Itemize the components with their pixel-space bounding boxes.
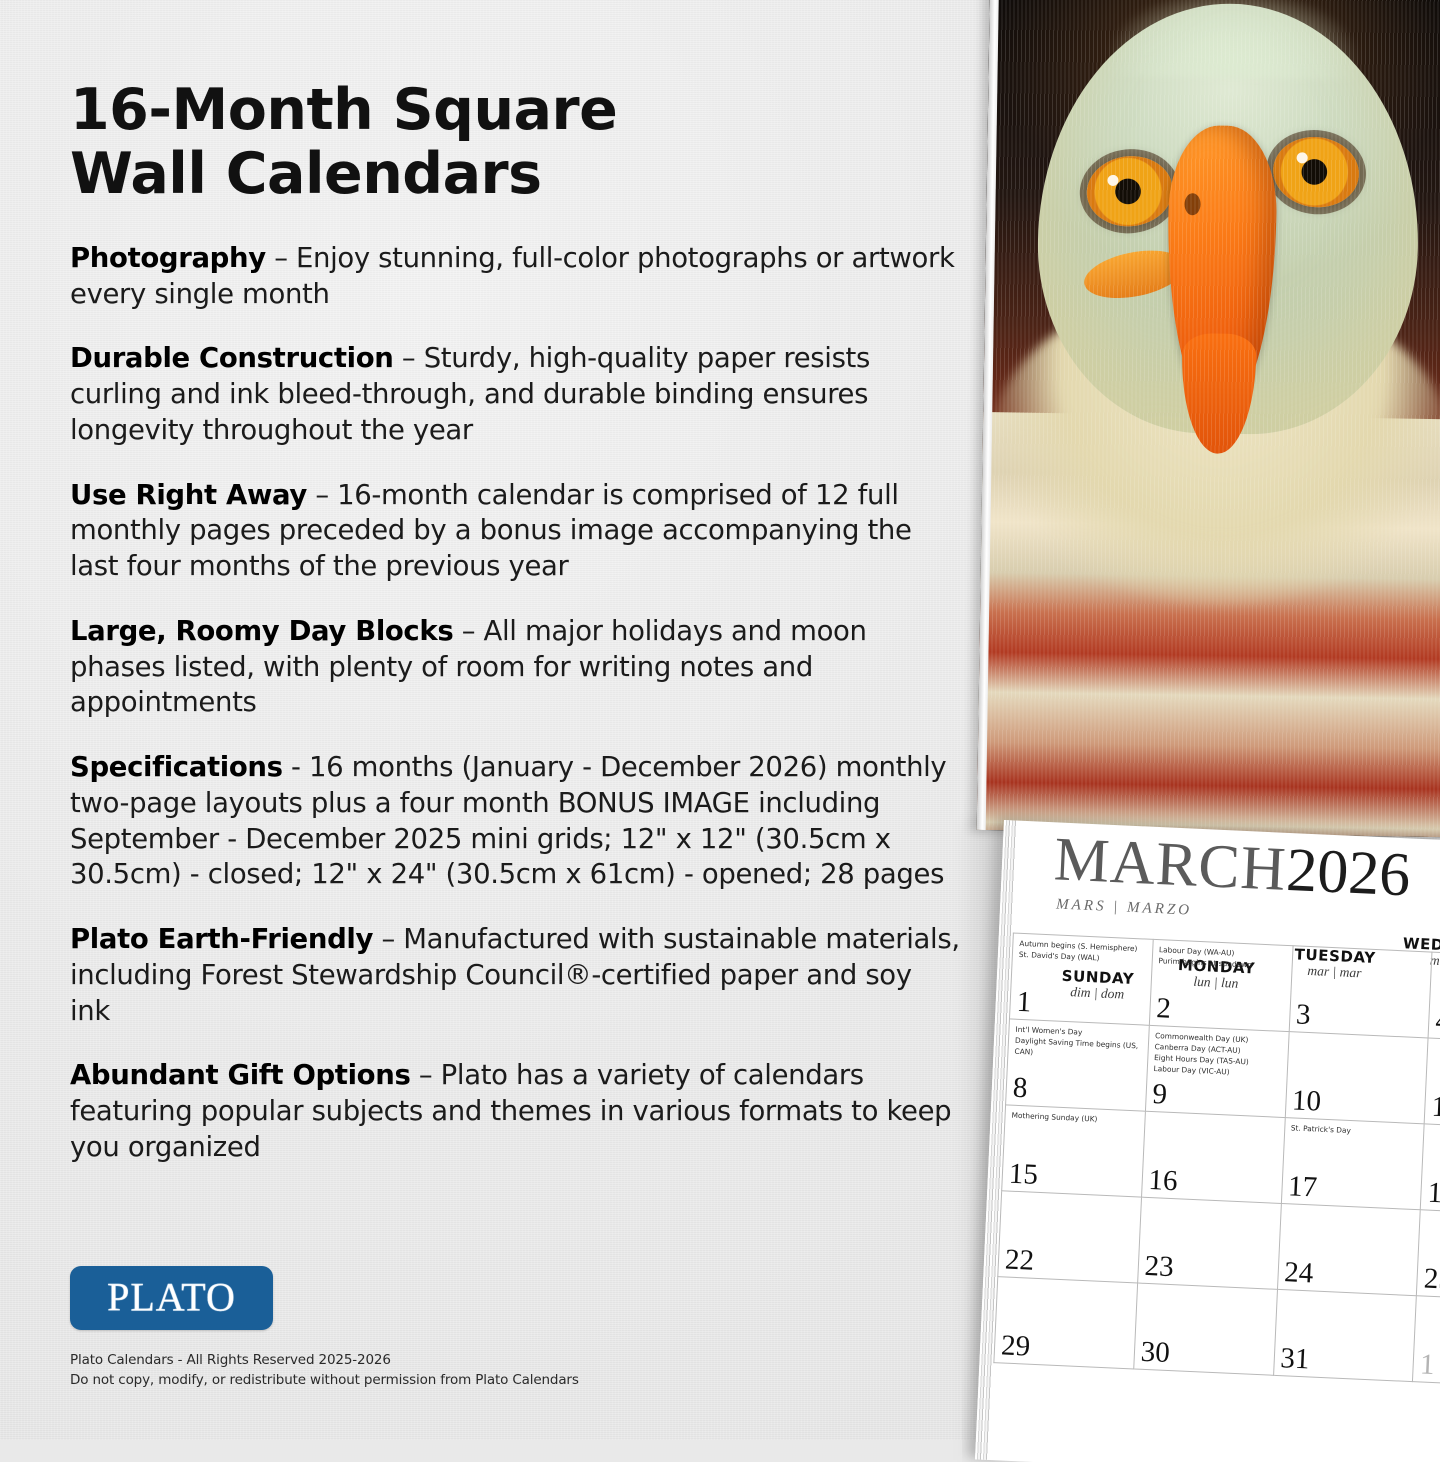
calendar-cover-photo [977, 0, 1440, 837]
day-cell[interactable]: Int'l Women's DayDaylight Saving Time be… [1006, 1019, 1150, 1111]
day-number: 10 [1291, 1086, 1321, 1116]
month-grid-body: Autumn begins (S. Hemisphere)St. David's… [994, 933, 1440, 1388]
day-note-line: Daylight Saving Time begins (US, CAN) [1014, 1035, 1144, 1063]
day-cell[interactable]: Commonwealth Day (UK)Canberra Day (ACT-A… [1145, 1025, 1289, 1117]
footer-line-2: Do not copy, modify, or redistribute wit… [70, 1371, 579, 1391]
day-number: 3 [1295, 1000, 1311, 1030]
month-year: 2026 [1285, 836, 1412, 910]
day-notes: Int'l Women's DayDaylight Saving Time be… [1014, 1024, 1144, 1063]
day-number: 1 [1016, 988, 1032, 1018]
feature-item-specifications: Specifications - 16 months (January - De… [70, 750, 960, 893]
feature-item-photography: Photography – Enjoy stunning, full-color… [70, 241, 960, 313]
feature-item-use-right-away: Use Right Away – 16-month calendar is co… [70, 478, 960, 585]
day-cell[interactable]: 16 [1141, 1111, 1285, 1203]
feature-item-gift-options: Abundant Gift Options – Plato has a vari… [70, 1058, 960, 1165]
day-number: 25 [1423, 1265, 1440, 1295]
day-number: 31 [1280, 1344, 1310, 1374]
feature-lead: Abundant Gift Options [70, 1059, 410, 1091]
day-number: 9 [1152, 1080, 1168, 1110]
day-cell[interactable]: 24 [1277, 1203, 1421, 1295]
plato-logo-text: PLATO [70, 1274, 273, 1321]
day-number: 4 [1435, 1007, 1440, 1037]
day-cell[interactable]: Autumn begins (S. Hemisphere)St. David's… [1009, 933, 1153, 1025]
day-number: 23 [1144, 1252, 1174, 1282]
calendar-month-page: MARCH2026 MARS | MARZO SUNDAY dim | dom … [975, 820, 1440, 1462]
day-number: 29 [1000, 1331, 1030, 1361]
day-cell[interactable]: 11 [1424, 1038, 1440, 1130]
photo-texture-overlay [977, 0, 1440, 837]
day-cell[interactable]: 25 [1417, 1210, 1440, 1302]
feature-item-earth-friendly: Plato Earth-Friendly – Manufactured with… [70, 922, 960, 1029]
day-cell[interactable]: 1 [1413, 1296, 1440, 1388]
day-cell[interactable]: 10 [1285, 1032, 1429, 1124]
day-cell[interactable]: 31 [1273, 1289, 1417, 1381]
day-notes: Commonwealth Day (UK)Canberra Day (ACT-A… [1153, 1030, 1284, 1080]
month-grid-week: 2930311 [994, 1277, 1440, 1388]
day-cell[interactable]: 3 [1289, 946, 1433, 1038]
day-number: 2 [1156, 994, 1172, 1024]
month-name: MARCH [1053, 825, 1288, 903]
day-number: 30 [1140, 1338, 1170, 1368]
page-title: 16-Month Square Wall Calendars [70, 78, 960, 207]
page-title-line-2: Wall Calendars [70, 141, 542, 207]
brand-logo: PLATO [70, 1266, 273, 1330]
marketing-copy-panel: 16-Month Square Wall Calendars Photograp… [70, 78, 960, 1166]
calendar-product-photo: MARCH2026 MARS | MARZO SUNDAY dim | dom … [962, 0, 1440, 1462]
day-number: 18 [1427, 1179, 1440, 1209]
day-note-line: Mothering Sunday (UK) [1011, 1110, 1140, 1127]
feature-lead: Large, Roomy Day Blocks [70, 615, 453, 647]
feature-lead: Specifications [70, 751, 283, 783]
plato-logo-badge: PLATO [70, 1266, 273, 1330]
day-notes: Autumn begins (S. Hemisphere)St. David's… [1019, 938, 1149, 966]
feature-lead: Plato Earth-Friendly [70, 923, 373, 955]
day-cell[interactable]: 18 [1420, 1124, 1440, 1216]
copyright-footer: Plato Calendars - All Rights Reserved 20… [70, 1351, 579, 1391]
day-notes: Labour Day (WA-AU)Purim begins at sundow… [1158, 944, 1288, 972]
day-cell[interactable]: 30 [1133, 1283, 1277, 1375]
feature-item-durable-construction: Durable Construction – Sturdy, high-qual… [70, 341, 960, 448]
month-translations: MARS | MARZO [1056, 896, 1193, 919]
day-cell[interactable]: 22 [998, 1191, 1142, 1283]
day-number: 8 [1012, 1074, 1028, 1104]
day-notes: Mothering Sunday (UK) [1011, 1110, 1140, 1127]
day-number: 15 [1008, 1160, 1038, 1190]
day-cell[interactable]: Labour Day (WA-AU)Purim begins at sundow… [1149, 939, 1293, 1031]
day-number: 17 [1287, 1172, 1317, 1202]
day-note-line: St. Patrick's Day [1291, 1122, 1420, 1139]
feature-list: Photography – Enjoy stunning, full-color… [70, 241, 960, 1166]
page-title-line-1: 16-Month Square [70, 77, 617, 143]
month-grid-table: Autumn begins (S. Hemisphere)St. David's… [993, 933, 1440, 1389]
month-heading: MARCH2026 [1053, 828, 1412, 906]
day-number: 16 [1148, 1166, 1178, 1196]
day-cell[interactable]: St. Patrick's Day17 [1281, 1118, 1425, 1210]
feature-lead: Durable Construction [70, 342, 394, 374]
day-cell[interactable]: Mothering Sunday (UK)15 [1002, 1105, 1146, 1197]
month-grid: Autumn begins (S. Hemisphere)St. David's… [993, 933, 1440, 1389]
day-number: 11 [1431, 1093, 1440, 1123]
feature-item-day-blocks: Large, Roomy Day Blocks – All major holi… [70, 614, 960, 721]
day-cell[interactable]: 23 [1137, 1197, 1281, 1289]
day-number: 22 [1004, 1246, 1034, 1276]
footer-line-1: Plato Calendars - All Rights Reserved 20… [70, 1351, 579, 1371]
feature-lead: Photography [70, 242, 266, 274]
day-number: 1 [1419, 1350, 1435, 1380]
day-cell[interactable]: 29 [994, 1277, 1138, 1369]
day-number: 24 [1284, 1258, 1314, 1288]
feature-lead: Use Right Away [70, 479, 307, 511]
day-notes: St. Patrick's Day [1291, 1122, 1420, 1139]
